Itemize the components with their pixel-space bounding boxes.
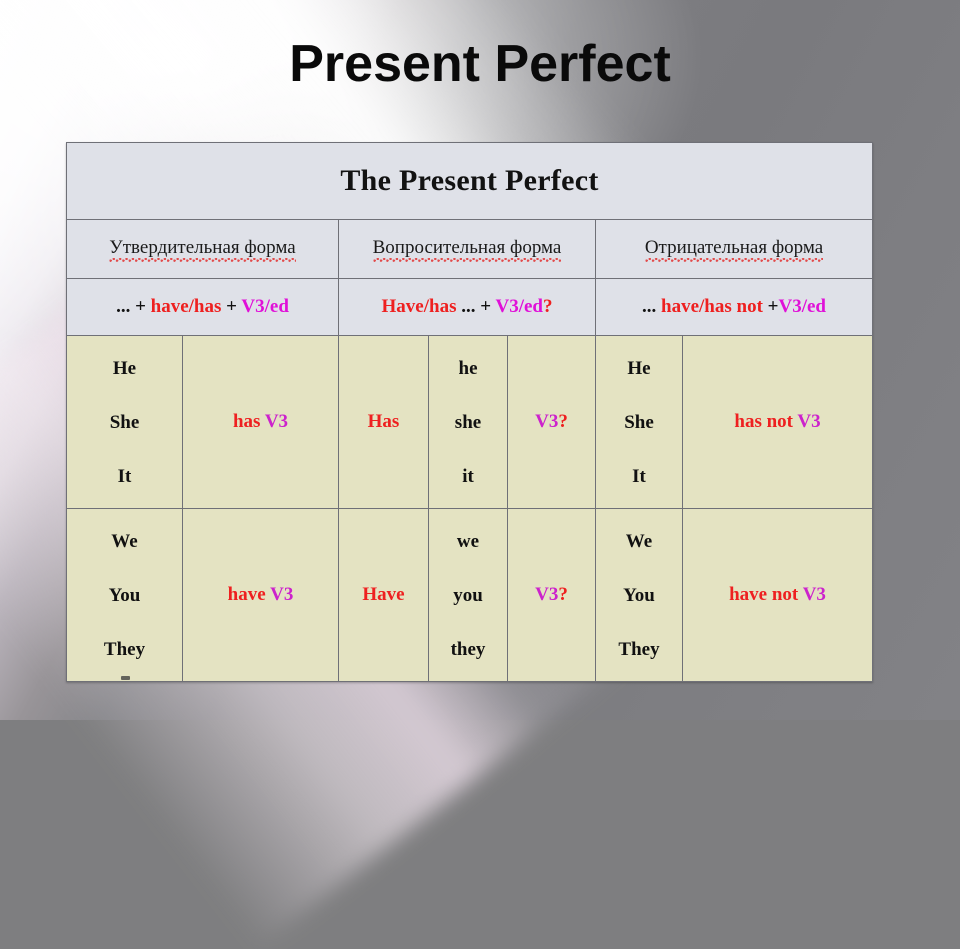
pronoun-item: She: [71, 413, 178, 432]
pronoun-item: They: [71, 640, 178, 659]
formula-interrogative-plus: +: [480, 296, 491, 317]
formula-interrogative: Have/has ... + V3/ed?: [339, 279, 596, 336]
table-caption-row: The Present Perfect: [67, 143, 873, 220]
table-row: He She It has V3 Has he she it: [67, 336, 873, 509]
pronoun-item: we: [433, 532, 503, 551]
formula-interrogative-dots: ...: [461, 296, 475, 317]
plural-negative-predicate: have not V3: [683, 509, 873, 682]
singular-affirmative-pronouns: He She It: [67, 336, 183, 509]
column-header-interrogative: Вопросительная форма: [339, 220, 596, 279]
pronoun-item: she: [433, 413, 503, 432]
pronoun-item: They: [600, 640, 678, 659]
formula-affirmative-verb: V3/ed: [241, 296, 289, 317]
formula-interrogative-aux: Have/has: [382, 296, 457, 317]
pronoun-item: It: [71, 467, 178, 486]
singular-negative-aux: has not: [734, 411, 793, 432]
plural-affirmative-predicate: have V3: [183, 509, 339, 682]
table-row: We You They have V3 Have we you they: [67, 509, 873, 682]
formula-affirmative: ... + have/has + V3/ed: [67, 279, 339, 336]
singular-question-verb-label: V3: [535, 411, 558, 432]
column-header-negative-label: Отрицательная форма: [645, 237, 823, 262]
singular-negative-pronouns: He She It: [596, 336, 683, 509]
slide-artifact-mark: [121, 676, 130, 680]
formula-affirmative-aux: have/has: [151, 296, 222, 317]
plural-affirmative-aux: have: [228, 584, 266, 605]
singular-affirmative-aux: has: [233, 411, 260, 432]
pronoun-item: He: [600, 359, 678, 378]
pronoun-item: You: [600, 586, 678, 605]
plural-affirmative-pronouns: We You They: [67, 509, 183, 682]
plural-negative-aux: have not: [729, 584, 798, 605]
formula-negative-verb: V3/ed: [779, 296, 827, 317]
formula-negative-not: not: [737, 296, 763, 317]
formula-negative: ... have/has not +V3/ed: [596, 279, 873, 336]
plural-negative-verb: V3: [803, 584, 826, 605]
pronoun-item: She: [600, 413, 678, 432]
singular-question-mark: ?: [558, 411, 568, 432]
plural-question-pronouns: we you they: [429, 509, 508, 682]
formula-negative-dots: ...: [642, 296, 656, 317]
pronoun-item: It: [600, 467, 678, 486]
formula-interrogative-question-mark: ?: [543, 296, 553, 317]
plural-question-aux: Have: [339, 509, 429, 682]
pronoun-item: We: [71, 532, 178, 551]
plural-question-aux-label: Have: [362, 584, 404, 605]
formula-negative-plus: +: [768, 296, 779, 317]
pronoun-item: it: [433, 467, 503, 486]
formula-affirmative-dots: ...: [116, 296, 130, 317]
pronoun-item: he: [433, 359, 503, 378]
table-caption: The Present Perfect: [67, 143, 873, 220]
column-header-negative: Отрицательная форма: [596, 220, 873, 279]
pronoun-item: they: [433, 640, 503, 659]
formula-affirmative-plus2: +: [226, 296, 237, 317]
singular-question-pronouns: he she it: [429, 336, 508, 509]
column-header-affirmative-label: Утвердительная форма: [109, 237, 295, 262]
singular-affirmative-predicate: has V3: [183, 336, 339, 509]
plural-question-verb: V3?: [508, 509, 596, 682]
singular-negative-predicate: has not V3: [683, 336, 873, 509]
singular-question-verb: V3?: [508, 336, 596, 509]
plural-affirmative-verb: V3: [270, 584, 293, 605]
plural-question-verb-label: V3: [535, 584, 558, 605]
pronoun-item: He: [71, 359, 178, 378]
column-header-interrogative-label: Вопросительная форма: [373, 237, 562, 262]
pronoun-item: You: [71, 586, 178, 605]
table-formula-row: ... + have/has + V3/ed Have/has ... + V3…: [67, 279, 873, 336]
plural-question-mark: ?: [558, 584, 568, 605]
table-column-header-row: Утвердительная форма Вопросительная форм…: [67, 220, 873, 279]
pronoun-item: We: [600, 532, 678, 551]
column-header-affirmative: Утвердительная форма: [67, 220, 339, 279]
plural-negative-pronouns: We You They: [596, 509, 683, 682]
formula-interrogative-verb: V3/ed: [495, 296, 543, 317]
singular-negative-verb: V3: [797, 411, 820, 432]
singular-question-aux: Has: [339, 336, 429, 509]
formula-affirmative-plus1: +: [135, 296, 146, 317]
pronoun-item: you: [433, 586, 503, 605]
singular-question-aux-label: Has: [368, 411, 400, 432]
formula-negative-aux: have/has: [661, 296, 732, 317]
page-title: Present Perfect: [0, 34, 960, 94]
present-perfect-table: The Present Perfect Утвердительная форма…: [66, 142, 873, 682]
singular-affirmative-verb: V3: [265, 411, 288, 432]
